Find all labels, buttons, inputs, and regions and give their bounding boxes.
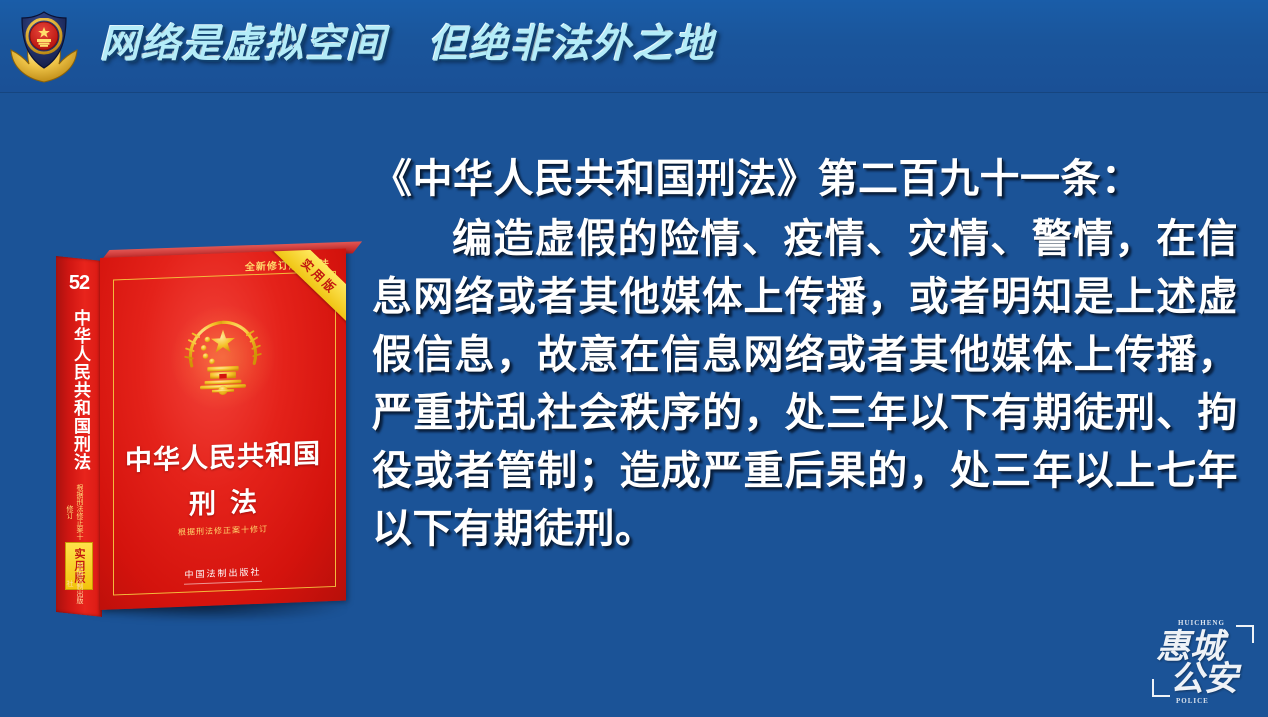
law-text-block: 《中华人民共和国刑法》第二百九十一条： 编造虚假的险情、疫情、灾情、警情，在信息…	[372, 150, 1238, 558]
watermark-top-text: HUICHENG	[1178, 619, 1225, 627]
book-spine-number: 52	[56, 272, 102, 295]
criminal-law-book-image: 52 中华人民共和国刑法 根据刑法修正案十修订 实用版 中国法制出版社 全新修订…	[48, 248, 358, 620]
book-front-cover: 全新修订版·刑 法 实用版	[100, 249, 346, 610]
national-emblem-icon	[171, 303, 275, 411]
poster-canvas: 网络是虚拟空间 但绝非法外之地 52 中华人民共和国刑法 根据刑法修正案十修订 …	[0, 0, 1268, 717]
law-article-body: 编造虚假的险情、疫情、灾情、警情，在信息网络或者其他媒体上传播，或者明知是上述虚…	[372, 210, 1238, 558]
watermark-main-line1: 惠城	[1156, 631, 1224, 665]
book-spine-subtitle: 根据刑法修正案十修订	[74, 484, 84, 540]
book-spine-publisher: 中国法制出版社	[74, 560, 84, 606]
watermark-main-line2: 公安	[1170, 663, 1238, 697]
header-content: 网络是虚拟空间 但绝非法外之地	[8, 0, 715, 92]
header-slogan: 网络是虚拟空间 但绝非法外之地	[100, 25, 715, 68]
watermark-logo: HUICHENG 惠城 公安 POLICE	[1152, 615, 1256, 707]
header-banner: 网络是虚拟空间 但绝非法外之地	[0, 0, 1268, 93]
watermark-text: HUICHENG 惠城 公安 POLICE	[1152, 615, 1256, 707]
watermark-bottom-text: POLICE	[1176, 697, 1209, 705]
law-article-title: 《中华人民共和国刑法》第二百九十一条：	[372, 150, 1238, 208]
book-spine-inner: 52 中华人民共和国刑法 根据刑法修正案十修订 实用版 中国法制出版社	[56, 256, 102, 612]
police-badge-icon	[8, 8, 80, 84]
book-spine: 52 中华人民共和国刑法 根据刑法修正案十修订 实用版 中国法制出版社	[56, 256, 102, 617]
book-spine-title: 中华人民共和国刑法	[68, 300, 90, 480]
